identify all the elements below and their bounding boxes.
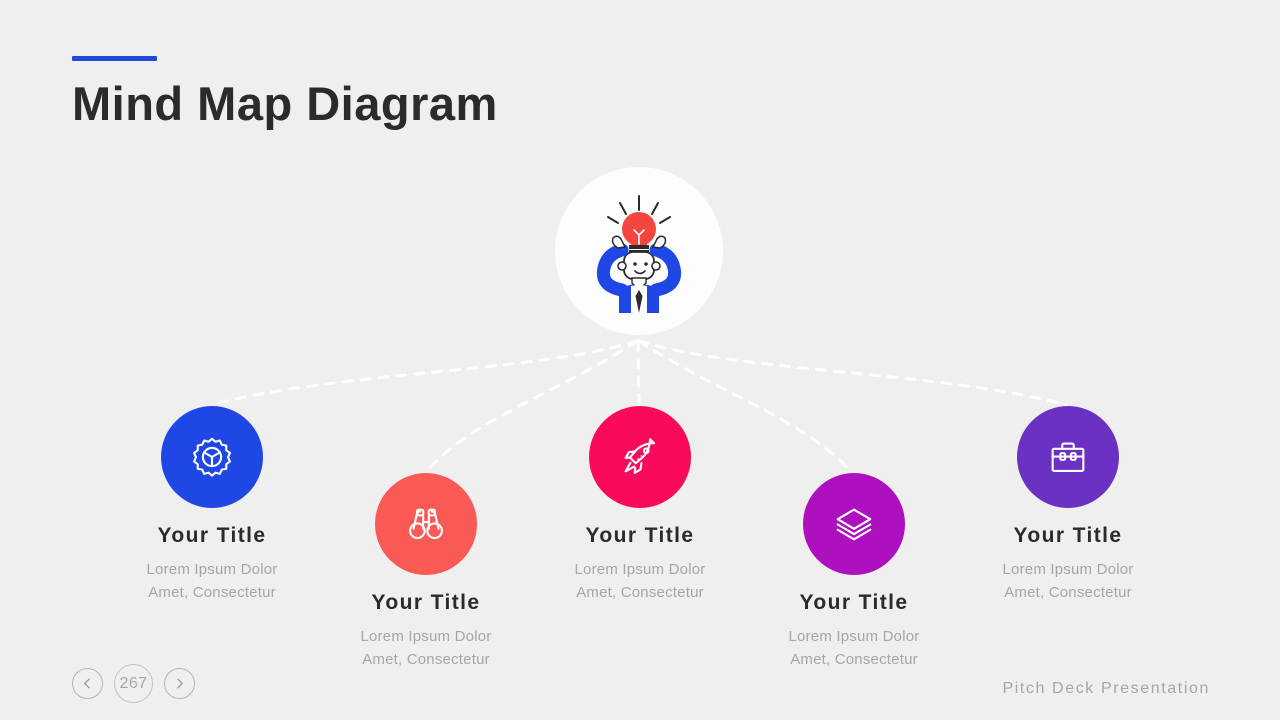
node-3-circle[interactable] (589, 406, 691, 508)
node-5-circle[interactable] (1017, 406, 1119, 508)
slide-number: 267 (114, 664, 153, 703)
rocket-icon (617, 434, 663, 480)
binoculars-icon (403, 501, 449, 547)
briefcase-icon (1045, 434, 1091, 480)
node-1-circle[interactable] (161, 406, 263, 508)
center-node (555, 167, 723, 335)
node-5-desc-line-1: Lorem Ipsum Dolor (948, 558, 1188, 581)
node-2-circle[interactable] (375, 473, 477, 575)
mind-map-node-5[interactable]: Your Title Lorem Ipsum Dolor Amet, Conse… (948, 406, 1188, 605)
node-1-title: Your Title (92, 524, 332, 548)
node-1-description: Lorem Ipsum Dolor Amet, Consectetur (92, 558, 332, 605)
mind-map-node-4[interactable]: Your Title Lorem Ipsum Dolor Amet, Conse… (734, 473, 974, 672)
mind-map-node-3[interactable]: Your Title Lorem Ipsum Dolor Amet, Conse… (520, 406, 760, 605)
mind-map-node-1[interactable]: Your Title Lorem Ipsum Dolor Amet, Conse… (92, 406, 332, 605)
node-1-desc-line-2: Amet, Consectetur (92, 581, 332, 604)
next-slide-button[interactable] (164, 668, 195, 699)
footer-label: Pitch Deck Presentation (1002, 680, 1210, 698)
slide-canvas: Mind Map Diagram (0, 0, 1280, 720)
chevron-left-icon (81, 677, 94, 690)
node-5-desc-line-2: Amet, Consectetur (948, 581, 1188, 604)
layers-icon (831, 501, 877, 547)
node-2-desc-line-1: Lorem Ipsum Dolor (306, 625, 546, 648)
node-3-desc-line-2: Amet, Consectetur (520, 581, 760, 604)
node-5-description: Lorem Ipsum Dolor Amet, Consectetur (948, 558, 1188, 605)
gear-icon (189, 434, 235, 480)
header: Mind Map Diagram (72, 56, 498, 128)
chevron-right-icon (173, 677, 186, 690)
node-4-desc-line-1: Lorem Ipsum Dolor (734, 625, 974, 648)
previous-slide-button[interactable] (72, 668, 103, 699)
node-2-title: Your Title (306, 591, 546, 615)
node-4-description: Lorem Ipsum Dolor Amet, Consectetur (734, 625, 974, 672)
connector-to-node-5 (639, 341, 1066, 405)
slide-pager: 267 (72, 664, 195, 703)
node-3-description: Lorem Ipsum Dolor Amet, Consectetur (520, 558, 760, 605)
node-4-title: Your Title (734, 591, 974, 615)
connector-to-node-1 (212, 341, 637, 405)
page-title: Mind Map Diagram (72, 61, 498, 128)
node-4-circle[interactable] (803, 473, 905, 575)
node-2-desc-line-2: Amet, Consectetur (306, 648, 546, 671)
node-3-desc-line-1: Lorem Ipsum Dolor (520, 558, 760, 581)
node-4-desc-line-2: Amet, Consectetur (734, 648, 974, 671)
person-idea-lightbulb-illustration (574, 186, 704, 316)
node-5-title: Your Title (948, 524, 1188, 548)
node-3-title: Your Title (520, 524, 760, 548)
connector-to-node-3 (638, 341, 639, 404)
node-1-desc-line-1: Lorem Ipsum Dolor (92, 558, 332, 581)
mind-map-node-2[interactable]: Your Title Lorem Ipsum Dolor Amet, Conse… (306, 473, 546, 672)
node-2-description: Lorem Ipsum Dolor Amet, Consectetur (306, 625, 546, 672)
